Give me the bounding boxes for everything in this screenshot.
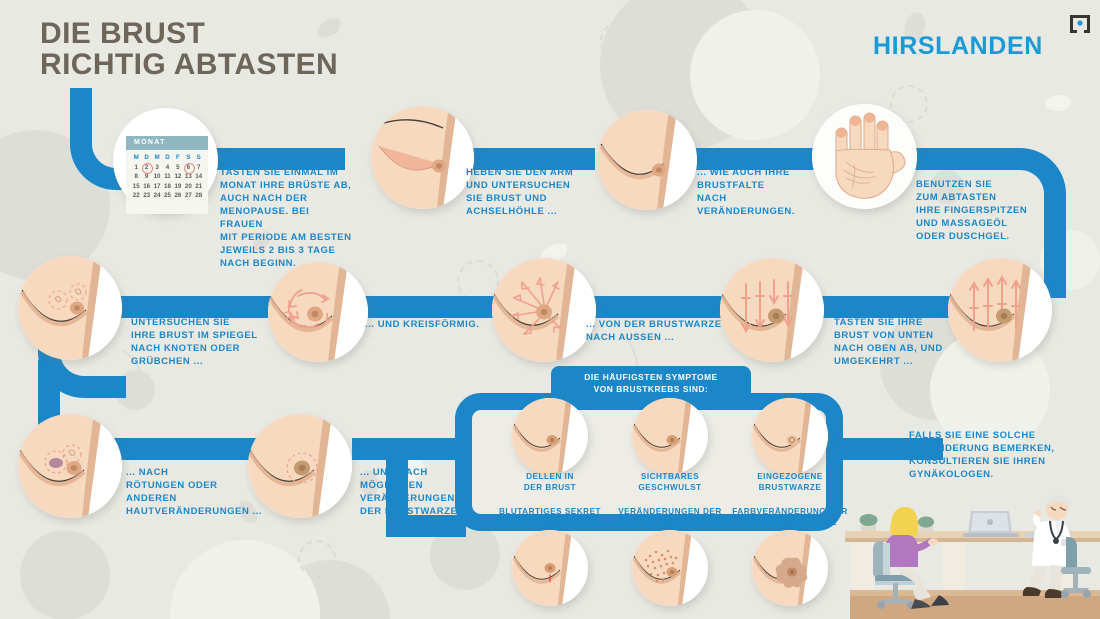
hirslanden-frame-icon [1068,14,1092,36]
calendar-day: 8 [131,172,141,182]
calendar-weekday-row: MDMDFSS [131,153,204,163]
pipe-segment-row2-b [345,296,515,318]
calendar-day: 22 [131,191,141,201]
calendar-weekday: M [131,153,141,163]
page-title: DIE BRUST RICHTIG ABTASTEN [40,18,338,80]
step-4-text: BENUTZEN SIE ZUM ABTASTEN IHRE FINGERSPI… [916,178,1046,243]
calendar-widget: MONAT MDMDFSS123456789101112131415161718… [126,136,208,214]
step-7-text: ... VON DER BRUSTWARZE NACH AUSSEN ... [586,318,736,344]
step-10-redness-illustration [18,414,122,518]
symptom-label-5: FARBVERÄNDERUNG DER BRUSTWARZENHÖFE [728,506,852,528]
calendar-day: 24 [152,191,162,201]
step-5-text: UNTERSUCHEN SIE IHRE BRUST IM SPIEGEL NA… [131,316,281,368]
calendar-weekday: D [162,153,172,163]
calendar-day: 7 [194,163,204,173]
calendar-day: 28 [194,191,204,201]
bg-dashed-ring [298,540,336,578]
calendar-weekday: F [173,153,183,163]
symptom-inverted-nipple-illustration [752,398,828,474]
step-11-text: ... UND NACH MÖGLICHEN VERÄNDERUNGEN DER… [360,466,495,518]
bg-circle [270,560,390,619]
calendar-day: 10 [152,172,162,182]
step-2-text: HEBEN SIE DEN ARM UND UNTERSUCHEN SIE BR… [466,166,591,218]
calendar-weekday: S [183,153,193,163]
pipe-segment-row3-b [352,438,464,460]
symptom-label-4: VERÄNDERUNGEN DER HAUTBESCHAFFENHEIT [608,506,732,528]
symptoms-panel-heading: DIE HÄUFIGSTEN SYMPTOME VON BRUSTKREBS S… [551,366,751,398]
calendar-day: 16 [141,182,151,192]
calendar-day: 18 [162,182,172,192]
bg-dashed-ring [600,20,644,64]
step-5-mirror-illustration [18,256,122,360]
calendar-day: 21 [194,182,204,192]
step-2-raise-arm-illustration [371,106,474,209]
step-3-breast-fold-illustration [597,110,697,210]
calendar-day: 25 [162,191,172,201]
step-8-downward-illustration [720,258,824,362]
symptom-label-1: SICHTBARES GESCHWULST [620,471,720,493]
symptom-skin-texture-illustration [632,530,708,606]
symptom-lump-illustration [632,398,708,474]
calendar-weekday: M [152,153,162,163]
calendar-day: 27 [183,191,193,201]
step-10-text: ... NACH RÖTUNGEN ODER ANDEREN HAUTVERÄN… [126,466,276,518]
calendar-day: 15 [131,182,141,192]
calendar-week-row: 22232425262728 [131,191,204,201]
bg-circle [170,540,320,619]
calendar-header: MONAT [126,136,208,150]
calendar-day: 20 [183,182,193,192]
symptom-label-0: DELLEN IN DER BRUST [500,471,600,493]
symptom-label-2: EINGEZOGENE BRUSTWARZE [740,471,840,493]
calendar-weekday: D [141,153,151,163]
calendar-day: 6 [183,163,193,173]
step-6-circular-illustration [268,262,368,362]
closing-text: FALLS SIE EINE SOLCHE VERÄNDERUNG BEMERK… [909,429,1089,481]
calendar-day: 14 [194,172,204,182]
calendar-week-row: 15161718192021 [131,182,204,192]
step-3-text: ... WIE AUCH IHRE BRUSTFALTE NACH VERÄND… [697,166,817,218]
bg-circle [690,10,820,140]
symptom-areola-color-illustration [752,530,828,606]
calendar-day: 2 [141,163,151,173]
pipe-segment-row2-a [105,296,290,318]
calendar-weekday: S [194,153,204,163]
symptom-dimple-illustration [512,398,588,474]
step-7-outward-illustration [492,258,596,362]
calendar-grid: MDMDFSS123456789101112131415161718192021… [126,150,208,201]
calendar-day: 26 [173,191,183,201]
step-6-text: ... UND KREISFÖRMIG. [365,318,495,331]
bg-bean [1045,95,1071,111]
calendar-day: 3 [152,163,162,173]
calendar-day: 1 [131,163,141,173]
step-8-text: TASTEN SIE IHRE BRUST VON UNTEN NACH OBE… [834,316,974,368]
calendar-week-row: 1234567 [131,163,204,173]
infographic-canvas: DIE BRUST RICHTIG ABTASTEN HIRSLANDEN DI… [0,0,1100,619]
doctor-consultation-illustration [845,495,1100,619]
step-1-text: TASTEN SIE EINMAL IM MONAT IHRE BRÜSTE A… [220,166,355,270]
calendar-week-row: 891011121314 [131,172,204,182]
calendar-day: 23 [141,191,151,201]
calendar-day: 17 [152,182,162,192]
brand-logo-text: HIRSLANDEN [873,32,1043,61]
step-4-hand-illustration [812,104,917,209]
calendar-day: 11 [162,172,172,182]
calendar-day: 12 [173,172,183,182]
symptom-discharge-illustration [512,530,588,606]
calendar-day: 19 [173,182,183,192]
calendar-day: 4 [162,163,172,173]
calendar-day: 5 [173,163,183,173]
symptom-label-3: BLUTARTIGES SEKRET AUS DER BRUSTWARZE [488,506,612,528]
bg-circle [20,530,110,619]
